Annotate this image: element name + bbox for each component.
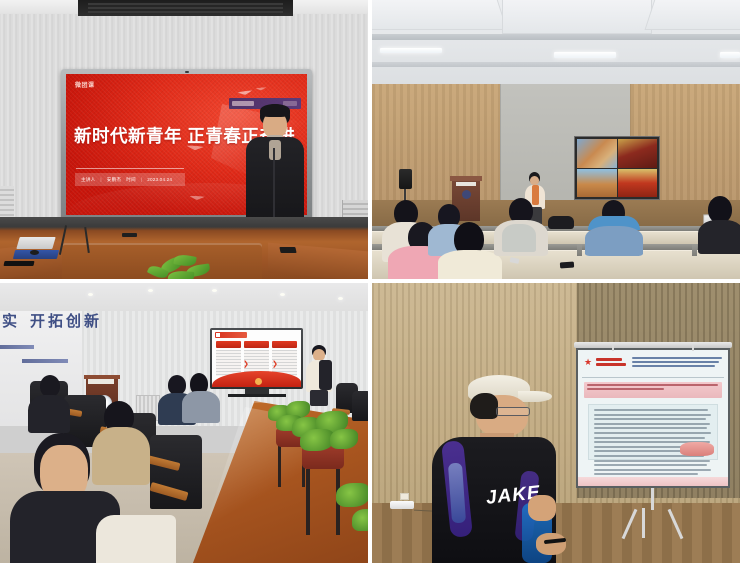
slide-tag-line (596, 358, 622, 361)
presentation-slide: ★ (578, 350, 728, 486)
presenter-trousers (310, 390, 328, 406)
ceiling-beam (372, 34, 740, 40)
smartphone-icon (279, 247, 296, 253)
speaker-hair (470, 393, 498, 419)
photo-collage: 微团课 新时代新青年 正青春正奋进 主讲人 | 安鹏杰 时间 | 2023.04… (0, 0, 740, 563)
ceiling-light (380, 48, 442, 53)
ceiling-light (554, 52, 616, 58)
office-chair (352, 391, 368, 421)
ceiling-panel (502, 0, 652, 34)
dove-icon (188, 196, 206, 201)
screen-hanger (612, 345, 614, 351)
downlight-icon (338, 297, 343, 300)
lectern-top (450, 176, 482, 181)
slide-emblem-icon (255, 378, 262, 385)
mouse-icon (30, 250, 39, 255)
photo-panel-bottom-left: 实开拓创新 (0, 283, 368, 563)
presentation-slide: ❯ ❯ (212, 330, 301, 387)
slide-date-label: 时间 (126, 177, 136, 183)
slide-meta-bar: 主讲人 | 安鹏杰 时间 | 2023.04.24 (75, 173, 185, 186)
lectern-nameplate (88, 379, 114, 384)
plant-stand (306, 469, 310, 535)
slide-decoration-shape (680, 442, 714, 456)
plant-stand (278, 445, 281, 487)
downlight-icon (88, 293, 93, 296)
slide-column (216, 341, 241, 376)
display-soundbar (228, 394, 286, 397)
photo-panel-bottom-right: ★ (372, 283, 740, 563)
smartphone-icon (122, 233, 137, 237)
plant-foliage (336, 483, 368, 507)
plant-foliage (300, 429, 334, 451)
slide-header-mark (216, 333, 220, 337)
plant-foliage (330, 429, 358, 449)
backpack (548, 216, 574, 229)
speaker-head (530, 176, 539, 185)
presenter-fringe (260, 104, 290, 117)
potted-plant (142, 255, 220, 279)
wall-socket-icon (400, 493, 409, 500)
plant-foliage (352, 509, 368, 531)
cap-brim (518, 391, 552, 402)
display-camera-icon (185, 71, 189, 73)
tripod-pole (651, 488, 654, 510)
slide-date-value: 2023.04.24 (147, 177, 172, 182)
slide-tag-block (596, 358, 626, 368)
slide-column (272, 341, 297, 376)
desk-vent-slats (88, 3, 283, 13)
wall-display: ❯ ❯ (210, 328, 303, 389)
screen-hanger (692, 345, 694, 351)
wall-slogan-part2: 开拓创新 (30, 313, 102, 330)
photo-panel-top-right: Lecture hall seen from the back rows; a … (372, 0, 740, 279)
ceiling-panel (644, 0, 740, 30)
slide-speaker-label: 主讲人 (81, 177, 95, 183)
chevron-right-icon: ❯ (272, 360, 278, 368)
speaker-scarf (532, 185, 539, 205)
grid-tile-2 (618, 139, 658, 168)
slide-divider (582, 377, 724, 378)
slide-tag-line (596, 363, 626, 366)
conference-room-ceiling (0, 283, 368, 313)
slide-divider (76, 168, 184, 169)
presenter-jacket-dark-panel (319, 360, 332, 390)
column-heading (244, 341, 269, 348)
slide-footer-band (578, 477, 728, 486)
presenter-collar (269, 140, 281, 160)
slide-speaker-name: 安鹏杰 (107, 177, 121, 183)
red-star-icon: ★ (584, 358, 592, 367)
grid-tile-4 (618, 169, 658, 198)
smartphone-icon (560, 262, 574, 269)
slide-sep-1: | (100, 177, 101, 182)
ceiling-beam (372, 62, 740, 67)
grid-tile-3 (577, 169, 617, 198)
wall-slogan-part1: 实 (2, 313, 20, 330)
ceiling-light (720, 52, 740, 58)
speaker-hand (536, 533, 566, 555)
remote-control-icon (3, 261, 34, 266)
slide-kicker: 微团课 (75, 80, 95, 89)
grid-tile-1 (577, 139, 617, 168)
lectern-emblem-icon (462, 190, 471, 199)
glasses-icon (496, 407, 530, 416)
photo-panel-top-left: 微团课 新时代新青年 正青春正奋进 主讲人 | 安鹏杰 时间 | 2023.04… (0, 0, 368, 279)
speaker-figure: JAKE (432, 375, 582, 563)
slide-highlight-band (584, 382, 722, 398)
speaker-hand (528, 495, 556, 521)
desk-divider (692, 244, 697, 256)
ceiling-panel (372, 0, 508, 30)
wall-slogan: 实开拓创新 (2, 310, 102, 331)
router-device (390, 501, 414, 509)
slide-header-text (632, 357, 722, 369)
wall-seam (500, 84, 501, 214)
column-heading (216, 341, 241, 348)
laptop-icon (16, 237, 55, 249)
column-heading (272, 341, 297, 348)
tripod-leg (642, 508, 645, 538)
presenter-figure (306, 345, 332, 405)
slide-sep-2: | (141, 177, 142, 182)
desk-divider (577, 244, 582, 256)
slide-image-grid (577, 139, 657, 197)
downlight-icon (280, 293, 285, 296)
wall-accent-bar (22, 359, 68, 363)
lectern-nameplate (456, 182, 476, 186)
wall-accent-bar (0, 345, 34, 349)
downlight-icon (148, 289, 153, 292)
downlight-icon (212, 289, 217, 292)
projection-screen: ★ (576, 348, 730, 488)
projection-screen (574, 136, 660, 200)
loudspeaker (399, 169, 412, 189)
chevron-right-icon: ❯ (243, 360, 249, 368)
